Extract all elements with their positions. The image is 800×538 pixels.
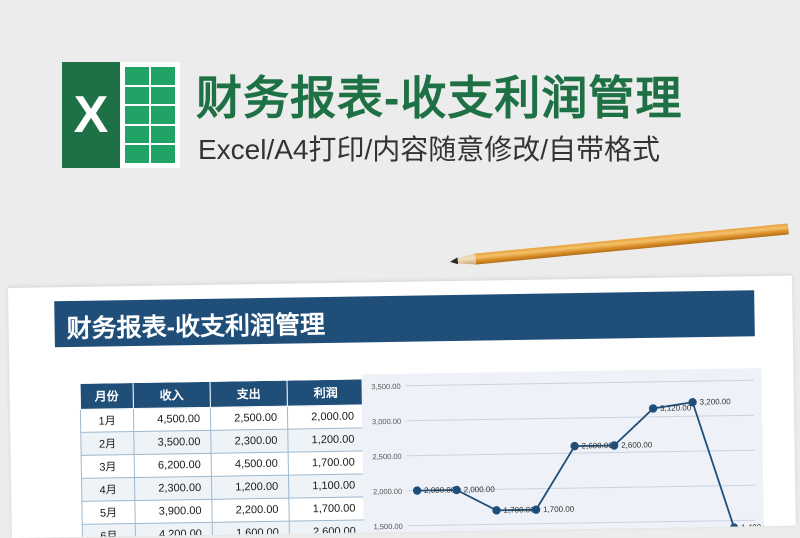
cell-expense: 1,200.00 bbox=[211, 475, 288, 499]
chart-y-tick-label: 3,500.00 bbox=[371, 382, 400, 391]
cell-income: 3,900.00 bbox=[135, 499, 212, 523]
chart-point-label: 2,000.00 bbox=[424, 485, 456, 494]
chart-y-tick-label: 2,500.00 bbox=[372, 452, 401, 461]
chart-point-label: 1,700.00 bbox=[543, 505, 575, 514]
pencil-tip bbox=[450, 257, 459, 265]
chart-data-point bbox=[730, 523, 739, 532]
chart-gridline bbox=[407, 450, 755, 455]
excel-logo-cell bbox=[150, 144, 176, 164]
finance-table: 月份 收入 支出 利润 1月 4,500.00 2,500.00 2,000.0… bbox=[79, 378, 367, 538]
excel-logo-grid-table bbox=[123, 65, 177, 165]
cell-income: 4,500.00 bbox=[133, 407, 210, 431]
cell-expense: 2,300.00 bbox=[211, 429, 288, 453]
cell-expense: 2,200.00 bbox=[212, 498, 289, 522]
chart-y-tick-label: 1,500.00 bbox=[374, 522, 403, 531]
finance-table-body: 1月 4,500.00 2,500.00 2,000.00 2月 3,500.0… bbox=[80, 405, 366, 538]
excel-logo: X bbox=[62, 62, 180, 168]
pencil-decoration bbox=[449, 219, 789, 271]
excel-logo-cell bbox=[124, 86, 150, 106]
cell-profit: 1,700.00 bbox=[289, 497, 366, 521]
document-sheet: 财务报表-收支利润管理 月份 收入 支出 利润 1月 4,500.00 2,50… bbox=[8, 276, 796, 538]
column-header-profit: 利润 bbox=[287, 379, 364, 406]
cell-month: 3月 bbox=[81, 455, 134, 479]
pencil-body bbox=[473, 223, 789, 264]
chart-data-point bbox=[570, 442, 579, 451]
profit-line-chart-svg: 1,500.002,000.002,500.003,000.003,500.00… bbox=[361, 368, 763, 532]
chart-point-label: 1,700.00 bbox=[503, 505, 535, 514]
sheet-title-bar: 财务报表-收支利润管理 bbox=[54, 290, 755, 347]
column-header-expense: 支出 bbox=[210, 380, 287, 407]
chart-y-tick-label: 3,000.00 bbox=[372, 417, 401, 426]
cell-income: 2,300.00 bbox=[134, 476, 211, 500]
cell-profit: 1,700.00 bbox=[288, 451, 365, 475]
excel-logo-cell bbox=[124, 66, 150, 86]
chart-line-series bbox=[416, 402, 734, 533]
excel-logo-grid bbox=[120, 62, 180, 168]
cell-expense: 2,500.00 bbox=[210, 406, 287, 430]
cell-expense: 4,500.00 bbox=[211, 452, 288, 476]
column-header-month: 月份 bbox=[80, 383, 133, 410]
excel-logo-cell bbox=[124, 105, 150, 125]
chart-point-label: 3,120.00 bbox=[660, 403, 692, 412]
cell-profit: 2,600.00 bbox=[289, 520, 366, 538]
cell-month: 5月 bbox=[82, 501, 135, 525]
excel-logo-cell bbox=[150, 125, 176, 145]
excel-logo-cell bbox=[150, 105, 176, 125]
chart-point-label: 2,000.00 bbox=[464, 485, 496, 494]
sheet-title: 财务报表-收支利润管理 bbox=[66, 305, 325, 345]
chart-point-label: 2,600.00 bbox=[582, 441, 614, 450]
cell-expense: 1,600.00 bbox=[212, 521, 289, 538]
pencil-wood bbox=[455, 254, 476, 267]
cell-profit: 1,100.00 bbox=[288, 474, 365, 498]
excel-logo-cell bbox=[124, 125, 150, 145]
excel-logo-cell bbox=[150, 66, 176, 86]
cell-month: 2月 bbox=[81, 432, 134, 456]
cell-profit: 2,000.00 bbox=[287, 405, 364, 429]
screenshot-root: X 财务报表-收支利润管理 Excel/A4打印/内容随意修改/自带格式 bbox=[0, 0, 800, 526]
chart-y-tick-label: 2,000.00 bbox=[373, 487, 402, 496]
product-banner: X 财务报表-收支利润管理 Excel/A4打印/内容随意修改/自带格式 bbox=[0, 0, 800, 272]
cell-income: 4,200.00 bbox=[135, 522, 212, 538]
column-header-income: 收入 bbox=[133, 381, 210, 408]
cell-income: 6,200.00 bbox=[134, 453, 211, 477]
cell-profit: 1,200.00 bbox=[288, 428, 365, 452]
chart-point-label: 2,600.00 bbox=[621, 440, 653, 449]
chart-point-label: 3,200.00 bbox=[700, 397, 732, 406]
excel-logo-letter: X bbox=[62, 62, 120, 168]
chart-data-point bbox=[413, 486, 422, 495]
cell-month: 1月 bbox=[80, 409, 133, 433]
excel-logo-cell bbox=[124, 144, 150, 164]
chart-gridline bbox=[408, 520, 756, 525]
chart-gridline bbox=[406, 380, 754, 385]
excel-logo-cell bbox=[150, 86, 176, 106]
cell-income: 3,500.00 bbox=[134, 430, 211, 454]
chart-gridline bbox=[406, 415, 754, 420]
document-sheet-inner: 财务报表-收支利润管理 月份 收入 支出 利润 1月 4,500.00 2,50… bbox=[8, 276, 796, 538]
cell-month: 4月 bbox=[81, 478, 134, 502]
chart-data-point bbox=[492, 506, 501, 515]
profit-line-chart: 1,500.002,000.002,500.003,000.003,500.00… bbox=[361, 368, 763, 532]
banner-title: 财务报表-收支利润管理 bbox=[196, 62, 682, 128]
chart-point-label: 1,400.00 bbox=[741, 523, 764, 532]
banner-subtitle: Excel/A4打印/内容随意修改/自带格式 bbox=[198, 128, 660, 168]
